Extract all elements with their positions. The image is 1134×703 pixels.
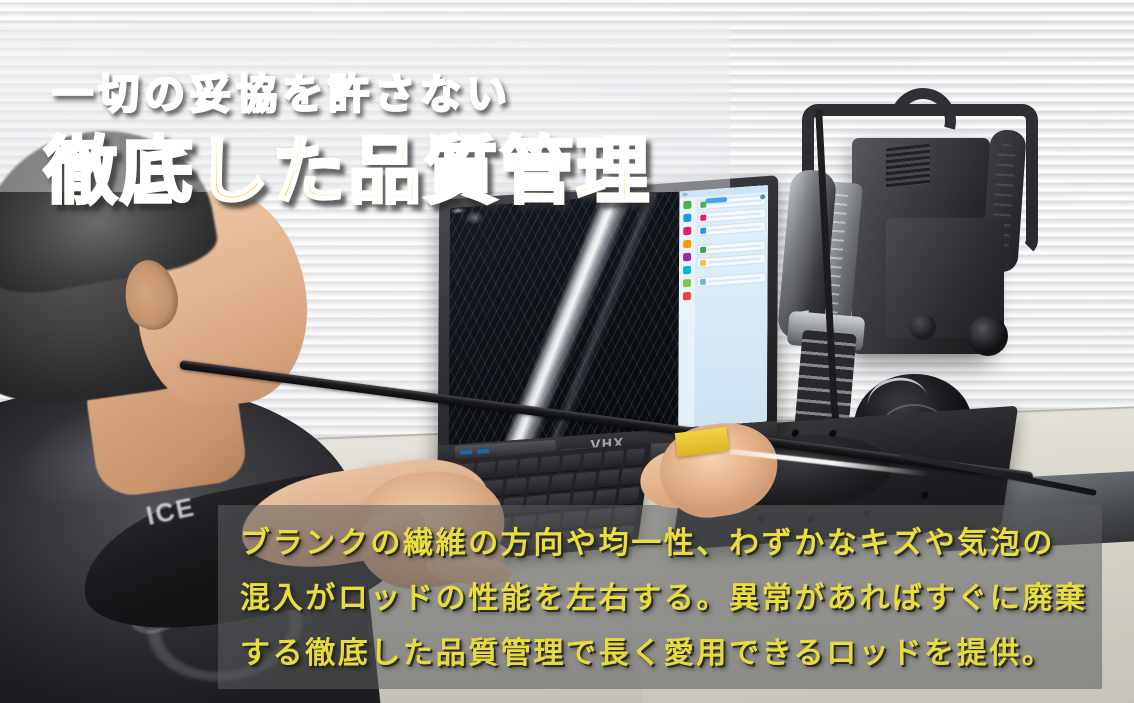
microscope-software-panel[interactable] (678, 185, 768, 428)
panel-icon-rail[interactable] (678, 197, 695, 428)
rail-icon-6[interactable] (683, 266, 691, 275)
rail-icon-1[interactable] (683, 201, 691, 210)
rail-icon-8[interactable] (683, 292, 691, 301)
rail-icon-3[interactable] (683, 227, 691, 236)
rail-icon-2[interactable] (683, 214, 691, 223)
list-item[interactable] (697, 272, 766, 287)
rail-icon-7[interactable] (683, 279, 691, 288)
caption-line-3: する徹底した品質管理で長く愛用できるロッドを提供。 (240, 628, 1080, 672)
caption-box: ブランクの繊維の方向や均一性、わずかなキズや気泡の 混入がロッドの性能を左右する… (218, 505, 1102, 689)
rail-icon-4[interactable] (683, 240, 691, 249)
microscope-focus-knob[interactable] (968, 316, 1008, 356)
promo-banner-image: VHX (0, 0, 1134, 703)
rail-icon-5[interactable] (683, 253, 691, 262)
caption-line-2: 混入がロッドの性能を左右する。異常があればすぐに廃棄 (240, 573, 1080, 617)
panel-title-icon (682, 193, 687, 196)
caption-line-1: ブランクの繊維の方向や均一性、わずかなキズや気泡の (240, 518, 1080, 562)
panel-item-list (694, 192, 768, 427)
panel-body (678, 192, 768, 428)
